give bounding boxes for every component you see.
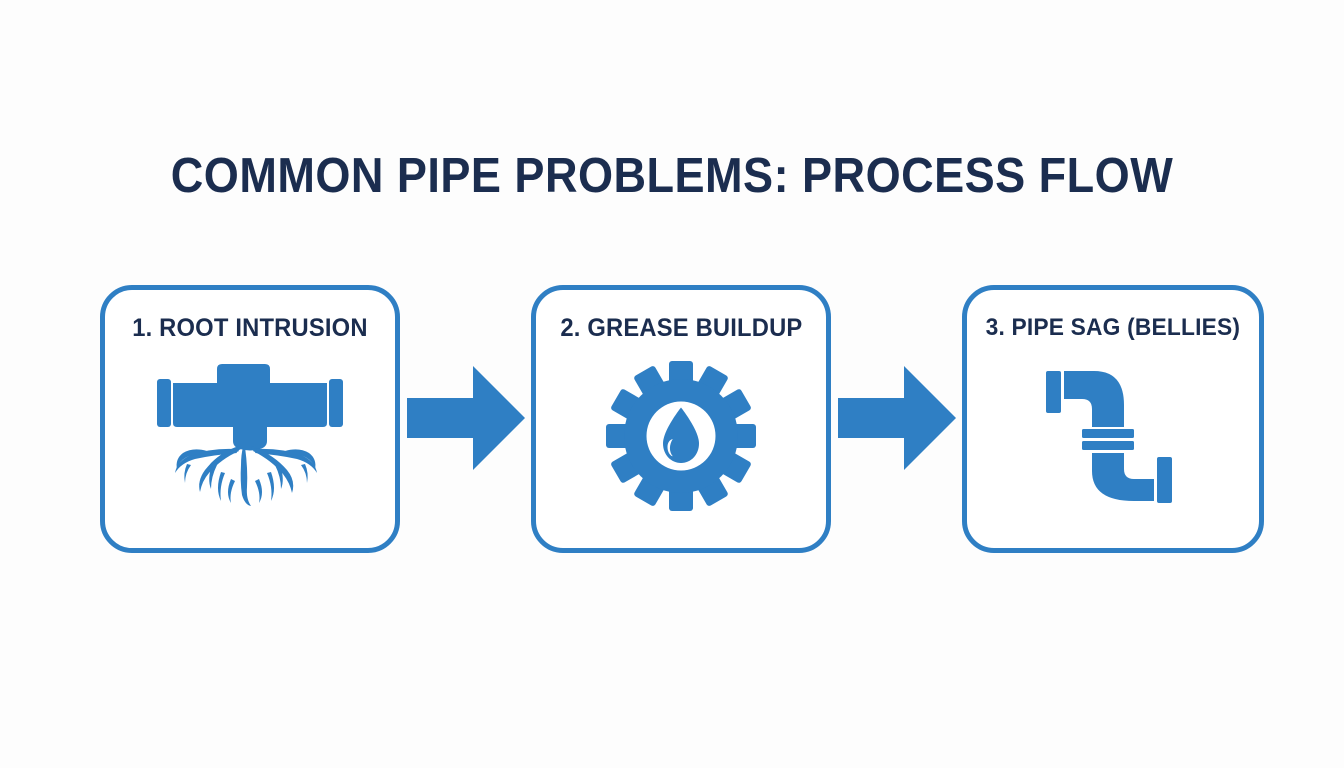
- pipe-with-roots-icon: [155, 361, 345, 516]
- flow-step-icon-slot-1: [105, 341, 395, 548]
- flow-step-card-2[interactable]: 2. GREASE BUILDUP: [531, 285, 831, 553]
- flow-connector-1: [401, 285, 531, 555]
- flow-connector-2: [832, 285, 962, 555]
- flow-step-label-2: 2. GREASE BUILDUP: [560, 316, 802, 341]
- process-flow-row: 1. ROOT INTRUSION: [100, 285, 1264, 555]
- flow-step-card-1[interactable]: 1. ROOT INTRUSION: [100, 285, 400, 553]
- gear-with-droplet-icon: [606, 361, 756, 516]
- flow-step-icon-slot-3: [967, 341, 1259, 549]
- infographic-canvas: COMMON PIPE PROBLEMS: PROCESS FLOW 1. RO…: [0, 0, 1344, 768]
- flow-step-label-3: 3. PIPE SAG (BELLIES): [986, 316, 1241, 341]
- sagging-pipe-icon: [1038, 361, 1188, 516]
- arrow-right-icon: [838, 366, 956, 475]
- flow-step-icon-slot-2: [536, 341, 826, 548]
- flow-step-label-1: 1. ROOT INTRUSION: [132, 316, 367, 341]
- page-title: COMMON PIPE PROBLEMS: PROCESS FLOW: [54, 148, 1290, 204]
- flow-step-card-3[interactable]: 3. PIPE SAG (BELLIES): [962, 285, 1264, 553]
- arrow-right-icon: [407, 366, 525, 475]
